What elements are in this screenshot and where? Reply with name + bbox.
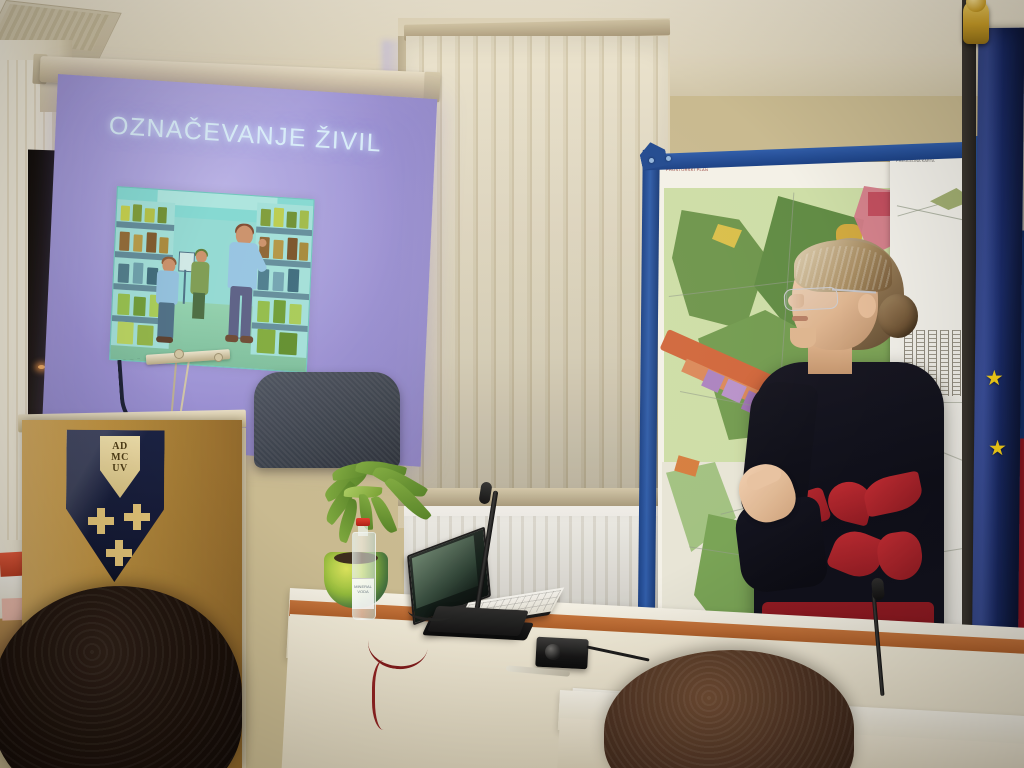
shield-letters: AD MC UV <box>100 441 140 474</box>
eu-star-icon: ★ <box>985 368 1004 389</box>
audience-mic-capsule-icon <box>871 578 885 601</box>
board-bolt-icon <box>649 158 654 163</box>
shield-letter-line-3: UV <box>100 463 140 474</box>
shield-cross-icon <box>88 508 114 534</box>
board-bolt-icon <box>666 156 671 161</box>
shield-letter-line-1: AD <box>100 441 140 452</box>
flag-fold-shading <box>972 28 1024 689</box>
bottle-cap[interactable] <box>356 518 370 526</box>
bottle-label-text: MINERAL VODA <box>353 584 373 594</box>
audience-microphone[interactable] <box>848 578 908 698</box>
digital-camera[interactable] <box>535 637 588 670</box>
presenter-chin <box>790 328 816 348</box>
shield-letter-line-2: MC <box>100 452 140 463</box>
desk-microphone[interactable] <box>424 490 534 650</box>
shield-cross-icon <box>124 504 150 530</box>
shopper-background <box>188 250 211 323</box>
board-frame-post-left <box>637 150 660 680</box>
microphone-capsule-icon <box>478 481 492 504</box>
eu-star-icon: ★ <box>988 438 1007 459</box>
lecture-hall-photo: PROSTORSKI PLAN PREGLEDNA KARTA <box>0 0 1024 768</box>
blinds-shading <box>406 36 668 491</box>
board-frame-corner-bracket <box>638 140 669 171</box>
shopper-left <box>153 258 181 348</box>
eu-flag: ★ ★ <box>972 28 1024 689</box>
presenter-lips <box>792 316 808 321</box>
presenter-hair-strands <box>796 246 890 290</box>
shopper-main <box>223 225 263 355</box>
red-cable-drop <box>372 660 401 730</box>
water-bottle[interactable]: MINERAL VODA <box>350 518 376 618</box>
glasses-icon <box>783 287 838 312</box>
audience-mic-gooseneck <box>871 592 884 696</box>
shield-cross-icon <box>106 540 132 566</box>
lamp-knob-icon <box>214 353 223 362</box>
chair-fabric-texture <box>254 372 400 468</box>
slide-illustration <box>109 186 315 373</box>
microphone-gooseneck <box>475 490 499 609</box>
presenter-hair-bun <box>878 294 918 338</box>
lamp-knob-icon <box>174 349 184 359</box>
bottle-label-line-2: VODA <box>353 589 373 594</box>
presenter-ear <box>858 294 876 318</box>
